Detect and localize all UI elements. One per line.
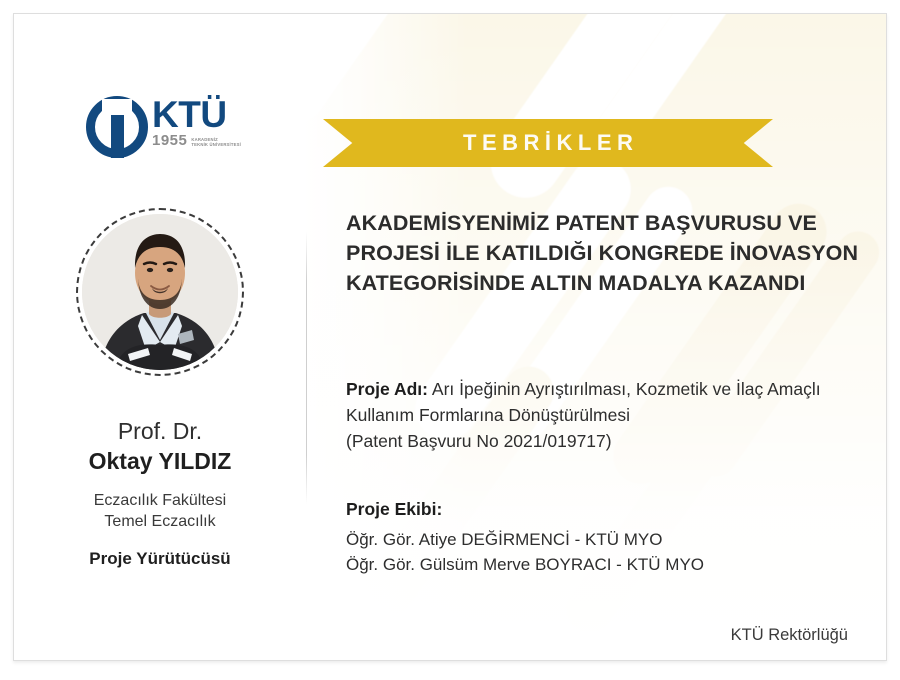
ktu-logo-acronym: KTÜ: [152, 94, 246, 136]
ktu-logo-university-line2: TEKNİK ÜNİVERSİTESİ: [191, 142, 241, 148]
headline-text: AKADEMİSYENİMİZ PATENT BAŞVURUSU VE PROJ…: [346, 208, 876, 298]
team-member: Öğr. Gör. Atiye DEĞİRMENCİ - KTÜ MYO: [346, 527, 876, 552]
ktu-logo-text: KTÜ 1955 KARADENİZ TEKNİK ÜNİVERSİTESİ: [152, 94, 246, 148]
ktu-logo-university: KARADENİZ TEKNİK ÜNİVERSİTESİ: [191, 137, 241, 148]
team-member: Öğr. Gör. Gülsüm Merve BOYRACI - KTÜ MYO: [346, 552, 876, 577]
project-info: Proje Adı: Arı İpeğinin Ayrıştırılması, …: [346, 376, 876, 454]
logo-notch-shape: [102, 99, 132, 115]
ktu-logo-year: 1955: [152, 134, 187, 148]
person-department-line1: Eczacılık Fakültesi: [14, 490, 306, 511]
project-patent-no: (Patent Başvuru No 2021/019717): [346, 428, 876, 454]
person-title: Prof. Dr.: [14, 416, 306, 446]
ribbon-label: TEBRİKLER: [458, 130, 639, 156]
certificate-poster: KTÜ 1955 KARADENİZ TEKNİK ÜNİVERSİTESİ: [0, 0, 900, 680]
project-label-text: Proje Adı:: [346, 379, 428, 399]
congratulations-ribbon: TEBRİKLER: [323, 119, 773, 167]
project-label: Proje Adı:: [346, 379, 428, 399]
portrait-container: [76, 208, 244, 376]
person-department-line2: Temel Eczacılık: [14, 511, 306, 532]
right-column: TEBRİKLER AKADEMİSYENİMİZ PATENT BAŞVURU…: [306, 14, 887, 661]
left-column: KTÜ 1955 KARADENİZ TEKNİK ÜNİVERSİTESİ: [14, 14, 306, 661]
logo-bar-shape: [111, 112, 124, 158]
ktu-logo-mark-icon: [86, 96, 148, 158]
person-department: Eczacılık Fakültesi Temel Eczacılık: [14, 490, 306, 532]
ktu-logo-subtext: 1955 KARADENİZ TEKNİK ÜNİVERSİTESİ: [152, 134, 246, 148]
person-info: Prof. Dr. Oktay YILDIZ Eczacılık Fakülte…: [14, 416, 306, 570]
portrait-dashed-ring: [76, 208, 244, 376]
ktu-logo: KTÜ 1955 KARADENİZ TEKNİK ÜNİVERSİTESİ: [86, 94, 246, 162]
team-heading: Proje Ekibi:: [346, 496, 876, 522]
person-name: Oktay YILDIZ: [14, 446, 306, 476]
footer-signature: KTÜ Rektörlüğü: [731, 626, 848, 645]
certificate-card: KTÜ 1955 KARADENİZ TEKNİK ÜNİVERSİTESİ: [13, 13, 887, 661]
person-role: Proje Yürütücüsü: [14, 548, 306, 570]
project-team: Proje Ekibi: Öğr. Gör. Atiye DEĞİRMENCİ …: [346, 496, 876, 577]
